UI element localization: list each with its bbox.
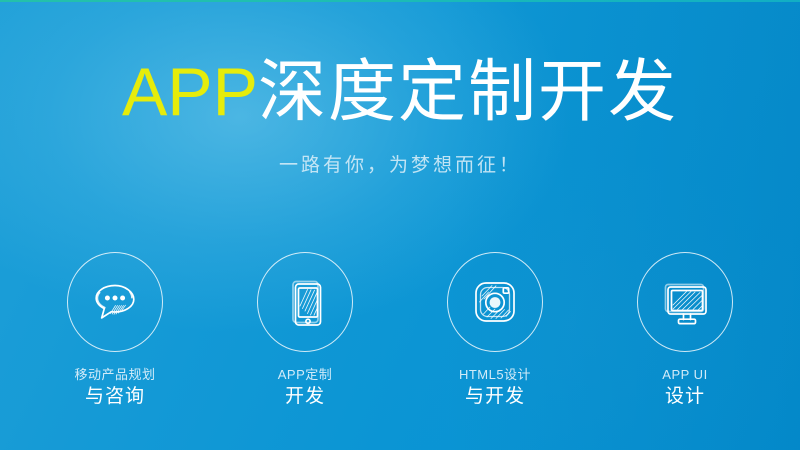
service-item-app-development[interactable]: APP定制 开发: [252, 252, 358, 408]
headline-chinese: 深度定制开发: [258, 54, 678, 130]
icon-circle: [257, 252, 353, 352]
service-item-consulting[interactable]: 移动产品规划 与咨询: [62, 252, 168, 408]
icon-circle: [637, 252, 733, 352]
service-labels: APP UI 设计: [662, 368, 707, 408]
service-labels: APP定制 开发: [278, 368, 333, 408]
service-labels: HTML5设计 与开发: [459, 368, 531, 408]
top-accent-stripe: [0, 0, 800, 2]
speech-bubble-icon: [85, 272, 145, 332]
icon-circle: [67, 252, 163, 352]
service-label-top: APP UI: [662, 368, 707, 383]
service-label-top: APP定制: [278, 368, 333, 383]
service-label-bottom: 与开发: [459, 386, 531, 408]
page-title: APP深度定制开发: [0, 58, 800, 126]
headline-latin: APP: [122, 54, 258, 130]
service-label-top: HTML5设计: [459, 368, 531, 383]
service-label-bottom: 设计: [662, 386, 707, 408]
service-labels: 移动产品规划 与咨询: [74, 368, 155, 408]
service-label-bottom: 开发: [278, 386, 333, 408]
service-item-html5[interactable]: HTML5设计 与开发: [442, 252, 548, 408]
service-item-app-ui[interactable]: APP UI 设计: [632, 252, 738, 408]
service-label-bottom: 与咨询: [74, 386, 155, 408]
tablet-device-icon: [275, 272, 335, 332]
service-label-top: 移动产品规划: [74, 368, 155, 383]
service-list: 移动产品规划 与咨询: [0, 252, 800, 408]
icon-circle: [447, 252, 543, 352]
desktop-monitor-icon: [655, 272, 715, 332]
page-subtitle: 一路有你，为梦想而征！: [0, 150, 800, 177]
camera-icon: [465, 272, 525, 332]
promo-banner: APP深度定制开发 一路有你，为梦想而征！: [0, 0, 800, 450]
